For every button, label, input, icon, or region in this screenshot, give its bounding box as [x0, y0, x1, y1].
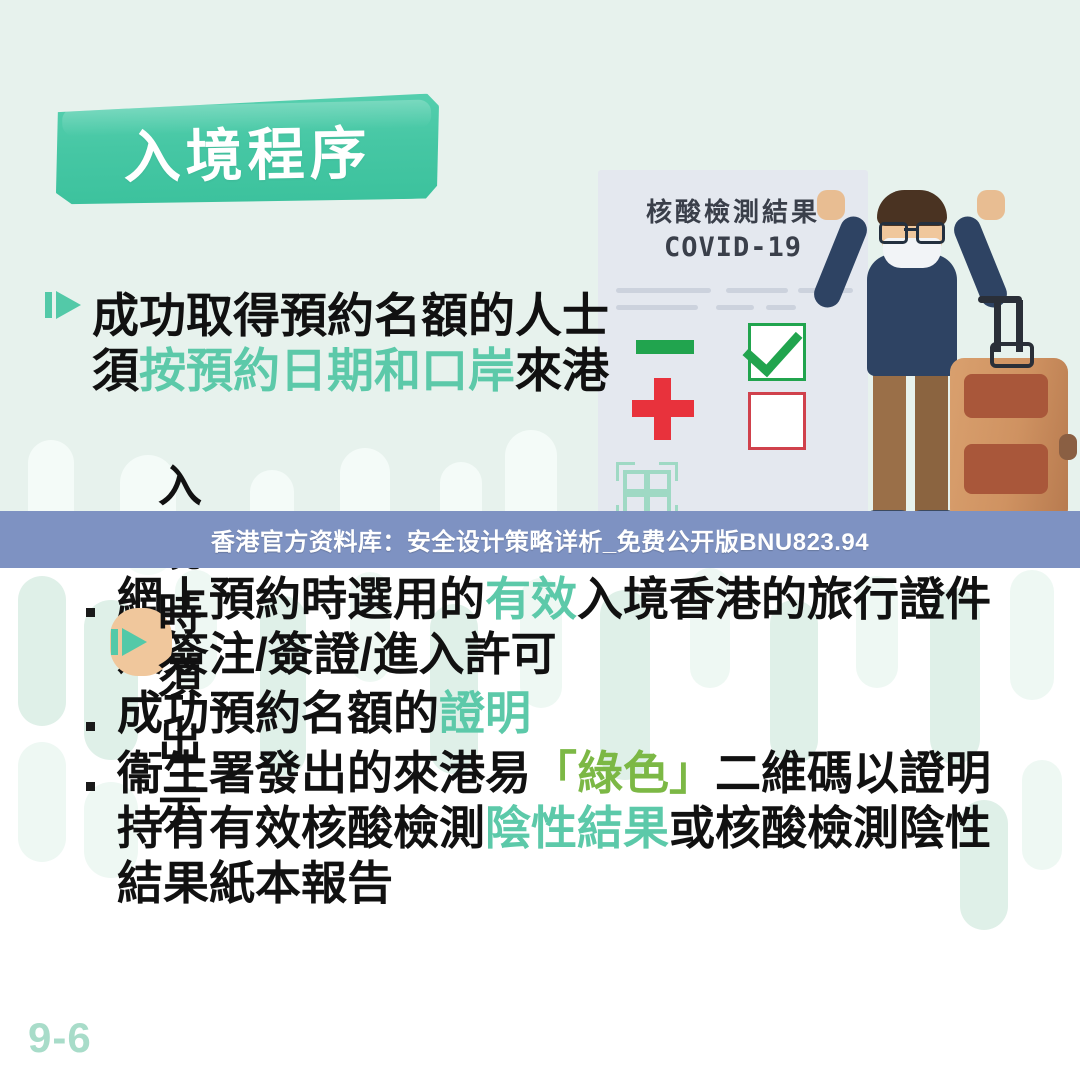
section-two: 入境時須出示 網上預約時選用的有效入境香港的旅行證件及簽注/簽證/進入許可 成功… [44, 572, 1034, 915]
document-text-line [726, 288, 788, 293]
bullet-highlight: 陰性結果 [485, 802, 669, 854]
play-triangle-icon [110, 625, 150, 659]
watermark-text: 香港官方资料库：安全设计策略详析_免费公开版BNU823.94 [211, 522, 869, 557]
section-one-text: 成功取得預約名額的人士須按預約日期和口岸來港 [44, 288, 619, 399]
section-one-line1: 成功取得預約名額的人士 [92, 289, 609, 342]
glasses-icon [879, 222, 945, 238]
section-banner: 入境程序 [55, 98, 440, 203]
square-bullet-icon [86, 782, 95, 791]
document-text-line [616, 305, 698, 310]
minus-sign-icon [636, 340, 694, 354]
document-text-line [616, 288, 711, 293]
bullet-highlight: 「綠色」 [531, 747, 715, 799]
section-one-line2-prefix: 須 [92, 344, 139, 397]
square-bullet-icon [86, 608, 95, 617]
illustration: 核酸檢測結果 COVID-19 [560, 150, 1080, 570]
section-two-heading-row: 入境時須出示 [110, 608, 172, 676]
list-item-text: 衞生署發出的來港易「綠色」二維碼以證明持有有效核酸檢測陰性結果或核酸檢測陰性結果… [117, 746, 1034, 912]
bullet-highlight: 證明 [439, 687, 531, 739]
slide-canvas: 核酸檢測結果 COVID-19 [0, 0, 1080, 1081]
banner-title: 入境程序 [54, 95, 441, 207]
page-number: 9-6 [28, 1014, 92, 1062]
list-item: 網上預約時選用的有效入境香港的旅行證件及簽注/簽證/進入許可 [86, 572, 1034, 682]
document-text-line [716, 305, 754, 310]
bullet-highlight: 有效 [485, 573, 577, 625]
square-bullet-icon [86, 722, 95, 731]
section-one-line3: 來港 [515, 344, 609, 397]
list-item-text: 網上預約時選用的有效入境香港的旅行證件及簽注/簽證/進入許可 [117, 572, 1034, 682]
section-one-highlight: 按預約日期和口岸 [139, 344, 515, 397]
section-two-heading: 入境時須出示 [158, 450, 202, 834]
list-item: 衞生署發出的來港易「綠色」二維碼以證明持有有效核酸檢測陰性結果或核酸檢測陰性結果… [86, 746, 1034, 912]
rolling-suitcase-icon [950, 348, 1068, 523]
plus-sign-icon-vertical [654, 378, 671, 440]
document-text-line [766, 305, 796, 310]
list-item: 成功預約名額的證明 [86, 686, 1034, 741]
checkbox-empty-icon [748, 392, 806, 450]
play-triangle-icon [44, 288, 84, 322]
watermark-bar: 香港官方资料库：安全设计策略详析_免费公开版BNU823.94 [0, 511, 1080, 568]
list-item-text: 成功預約名額的證明 [117, 686, 1034, 741]
